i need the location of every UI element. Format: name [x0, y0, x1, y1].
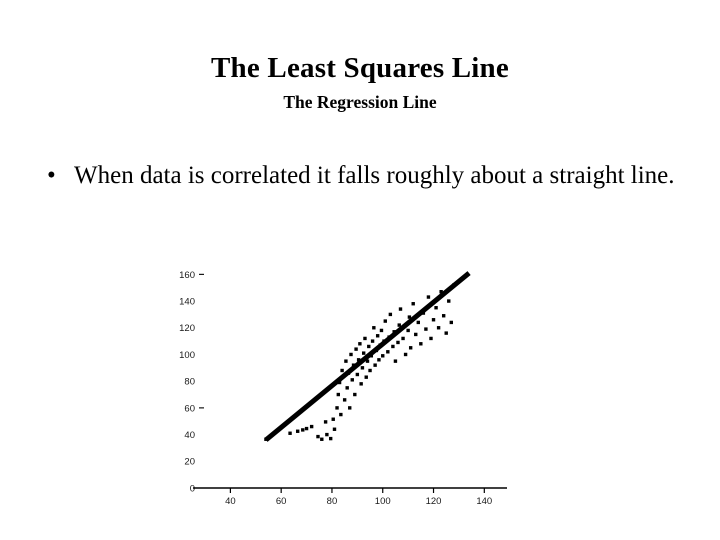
y-axis-tick-labels: 020406080100120140160: [179, 270, 195, 495]
y-tick-label: 20: [184, 457, 195, 468]
scatter-point: [320, 438, 323, 441]
scatter-point: [412, 302, 415, 305]
scatter-point: [316, 435, 319, 438]
scatter-point: [399, 307, 402, 310]
scatter-point: [427, 295, 430, 298]
scatter-point: [409, 346, 412, 349]
scatter-point: [434, 306, 437, 309]
scatter-point: [353, 393, 356, 396]
scatter-point: [288, 432, 291, 435]
x-tick-label: 80: [327, 496, 338, 507]
scatter-point: [344, 359, 347, 362]
scatter-point: [332, 418, 335, 421]
x-tick-label: 60: [276, 496, 287, 507]
x-tick-label: 100: [375, 496, 391, 507]
scatter-point: [349, 353, 352, 356]
y-tick-label: 80: [184, 377, 195, 388]
scatter-point: [419, 342, 422, 345]
scatter-point: [377, 358, 380, 361]
y-tick-label: 140: [179, 296, 195, 307]
scatter-point: [442, 314, 445, 317]
scatter-point: [329, 437, 332, 440]
scatter-point: [389, 313, 392, 316]
scatter-point: [358, 342, 361, 345]
bullet-list: • When data is correlated it falls rough…: [40, 158, 690, 193]
scatter-point: [301, 428, 304, 431]
scatter-point: [424, 327, 427, 330]
scatter-point: [356, 373, 359, 376]
scatter-point: [380, 329, 383, 332]
scatter-point: [335, 406, 338, 409]
scatter-point: [445, 331, 448, 334]
x-tick-label: 140: [476, 496, 492, 507]
y-tick-label: 60: [184, 403, 195, 414]
scatter-point: [376, 334, 379, 337]
list-item: • When data is correlated it falls rough…: [40, 158, 690, 193]
page-title: The Least Squares Line: [0, 52, 720, 84]
scatter-point: [348, 406, 351, 409]
scatter-point: [429, 337, 432, 340]
bullet-marker-icon: •: [47, 158, 56, 193]
slide-subtitle: The Regression Line: [0, 92, 720, 113]
scatter-point: [432, 318, 435, 321]
scatter-point: [340, 369, 343, 372]
scatter-point: [324, 420, 327, 423]
scatter-point: [386, 350, 389, 353]
scatter-point: [372, 326, 375, 329]
scatter-point: [310, 425, 313, 428]
scatter-plot-svg: 020406080100120140160 406080100120140: [150, 244, 530, 516]
scatter-point: [305, 427, 308, 430]
y-tick-label: 0: [190, 483, 195, 494]
scatter-point: [437, 326, 440, 329]
x-axis-tick-labels: 406080100120140: [225, 496, 492, 507]
scatter-point: [325, 433, 328, 436]
x-axis-line: [193, 488, 507, 493]
scatter-point: [396, 341, 399, 344]
scatter-point: [361, 366, 364, 369]
scatter-point: [391, 345, 394, 348]
scatter-point: [401, 337, 404, 340]
scatter-point: [447, 299, 450, 302]
scatter-plot-figure: 020406080100120140160 406080100120140: [150, 244, 530, 516]
scatter-point: [450, 321, 453, 324]
scatter-point: [363, 337, 366, 340]
scatter-point: [362, 351, 365, 354]
scatter-point: [417, 321, 420, 324]
y-tick-label: 100: [179, 350, 195, 361]
scatter-point: [333, 428, 336, 431]
scatter-point: [354, 347, 357, 350]
scatter-point: [339, 413, 342, 416]
y-tick-label: 160: [179, 270, 195, 281]
scatter-point: [351, 378, 354, 381]
scatter-point: [343, 398, 346, 401]
scatter-point: [404, 353, 407, 356]
scatter-point: [345, 386, 348, 389]
scatter-point: [406, 329, 409, 332]
scatter-point: [367, 345, 370, 348]
x-tick-label: 120: [426, 496, 442, 507]
bullet-text: When data is correlated it falls roughly…: [74, 162, 675, 189]
scatter-point: [394, 359, 397, 362]
y-tick-label: 120: [179, 323, 195, 334]
slide-canvas: The Least Squares Line The Regression Li…: [0, 0, 720, 540]
x-tick-label: 40: [225, 496, 236, 507]
scatter-point: [381, 354, 384, 357]
scatter-point: [373, 363, 376, 366]
y-axis-tick-marks: [199, 274, 204, 408]
scatter-point: [371, 339, 374, 342]
scatter-point: [337, 393, 340, 396]
scatter-point: [368, 369, 371, 372]
scatter-point: [359, 382, 362, 385]
regression-line: [266, 273, 469, 440]
least-squares-line: [266, 273, 469, 440]
scatter-point: [384, 319, 387, 322]
scatter-point: [296, 430, 299, 433]
scatter-point: [365, 375, 368, 378]
scatter-point: [414, 333, 417, 336]
y-tick-label: 40: [184, 430, 195, 441]
